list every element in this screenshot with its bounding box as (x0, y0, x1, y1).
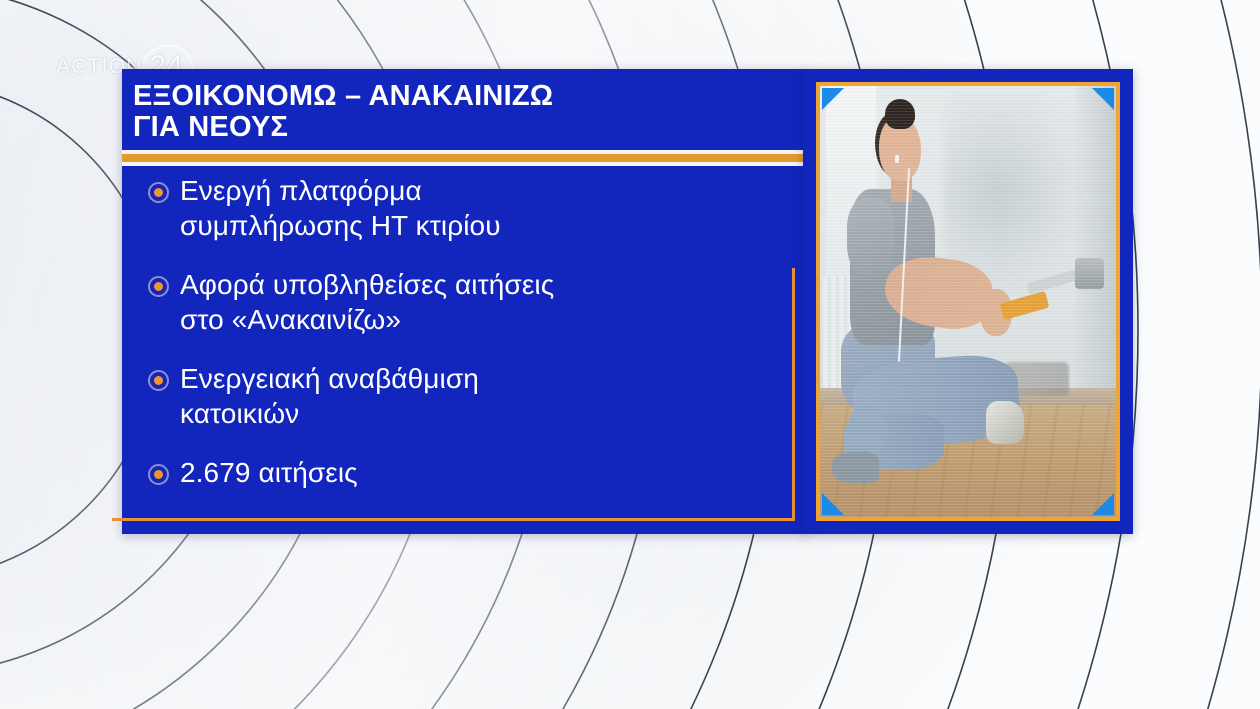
bullet-dot-icon (148, 276, 169, 297)
photo-card (803, 69, 1133, 534)
bullet-dot-icon (148, 370, 169, 391)
panel-title-line-1: ΕΞΟΙΚΟΝΟΜΩ – ΑΝΑΚΑΙΝΙΖΩ (133, 81, 793, 112)
photo-person-shoe-back (832, 452, 879, 482)
list-item: Ενεργειακή αναβάθμιση κατοικιών (148, 361, 788, 431)
info-panel: ΕΞΟΙΚΟΝΟΜΩ – ΑΝΑΚΑΙΝΙΖΩ ΓΙΑ ΝΕΟΥΣ Ενεργή… (122, 69, 807, 534)
corner-triangle-top-right-icon (1092, 88, 1114, 110)
bullet-text: Αφορά υποβληθείσες αιτήσεις στο «Ανακαιν… (180, 267, 554, 337)
corner-triangle-bottom-right-icon (1092, 493, 1114, 515)
panel-title: ΕΞΟΙΚΟΝΟΜΩ – ΑΝΑΚΑΙΝΙΖΩ ΓΙΑ ΝΕΟΥΣ (133, 81, 793, 143)
bullet-dot-icon (148, 464, 169, 485)
bullet-dot-icon (148, 182, 169, 203)
panel-title-line-2: ΓΙΑ ΝΕΟΥΣ (133, 112, 793, 143)
corner-triangle-top-left-icon (822, 88, 844, 110)
photo-person-hair-bun (885, 99, 915, 129)
bullet-text: Ενεργειακή αναβάθμιση κατοικιών (180, 361, 479, 431)
list-item: Αφορά υποβληθείσες αιτήσεις στο «Ανακαιν… (148, 267, 788, 337)
photo-person-knee (847, 405, 888, 457)
photo-frame (816, 82, 1120, 521)
bullet-list: Ενεργή πλατφόρμα συμπλήρωσης ΗΤ κτιρίου … (148, 173, 788, 514)
photo-paint-roller-head (1075, 258, 1105, 288)
list-item: 2.679 αιτήσεις (148, 455, 788, 490)
photo-person-sleeve (847, 198, 894, 276)
broadcast-slide: ACTION 24 ΕΞΟΙΚΟΝΟΜΩ – ΑΝΑΚΑΙΝΙΖΩ ΓΙΑ ΝΕ… (0, 0, 1260, 709)
title-divider (122, 150, 807, 166)
photo-person-shoe-front (986, 401, 1024, 444)
corner-triangle-bottom-left-icon (822, 493, 844, 515)
list-item: Ενεργή πλατφόρμα συμπλήρωσης ΗΤ κτιρίου (148, 173, 788, 243)
photo-right-wall (1075, 86, 1116, 422)
bullet-text: 2.679 αιτήσεις (180, 455, 358, 490)
title-divider-stripe (122, 154, 807, 162)
bullet-text: Ενεργή πλατφόρμα συμπλήρωσης ΗΤ κτιρίου (180, 173, 501, 243)
